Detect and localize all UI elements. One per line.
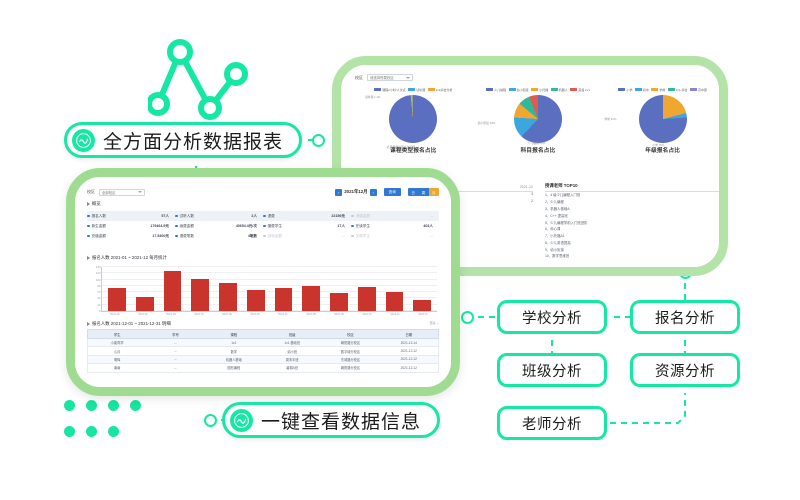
chart-section-title: 报名人数 2021-01 ~ 2021-12 每月统计 [87,255,167,261]
table-more-button[interactable]: 更多 ⌄ [430,321,439,325]
connector-knob [461,311,474,324]
legend-item: 幼小衔接 [509,87,529,92]
y-tick: 120 [96,271,101,275]
column-header[interactable]: 课程 [205,332,263,337]
campus-filter-label: 校区 [355,75,363,81]
period-segmented-control[interactable]: 日 周 月 [408,188,439,196]
x-axis-labels: 2021-01 2021-02 2021-03 2021-04 2021-05 … [101,313,437,321]
legend-item: 1v1 综合 [668,87,688,92]
x-tick: 2021-07 [269,313,297,321]
ranking-header: 授课老师 TOP10 [545,183,719,192]
pie-callout: 小学 76% [652,143,664,147]
enrollment-detail-table: 更多 ⌄ 学生 学号 课程 班级 校区 日期 小能同学 -- 1v1 1v1 基… [87,329,439,379]
pie-graphic [639,95,687,143]
overview-section-title: 概览 [87,201,101,207]
x-tick: 2021-09 [325,313,353,321]
legend-item: 试听课 [408,87,425,92]
pie-callout: 幼小衔接 14% [478,121,496,125]
pie-title: 科目报名占比 [521,146,556,154]
x-tick: 2021-05 [213,313,241,321]
pie-callout: 少儿编程 62% [528,141,546,145]
column-header[interactable]: 学生 [88,332,146,337]
ranking-row: 7、小托福A12 [545,232,719,239]
bar-column[interactable] [270,267,298,311]
segment-day[interactable]: 日 [408,188,418,196]
x-tick: 2021-11 [381,313,409,321]
stat-cell: 报名人数57人 [87,214,175,219]
tag-teacher-analysis[interactable]: 老师分析 [497,406,607,440]
x-tick: 2021-01 [101,313,129,321]
tag-enrollment-analysis[interactable]: 报名分析 [630,300,740,334]
stat-cell: 充值金额17.5400元 [87,234,175,239]
enrollment-bar-chart: 140 120 100 80 60 40 20 0 [87,265,439,321]
ranking-row: 1、4 级少儿编程入门班38 [545,192,719,199]
ranking-row: 6、科心课3 [545,225,719,232]
ranking-list-teachers: 授课老师 TOP10 1、4 级少儿编程入门班38 2、少儿编程24 3、机器人… [545,183,719,259]
bar-column[interactable] [159,267,187,311]
wave-circle-icon [230,409,253,432]
connector-knob [312,134,325,147]
tag-class-analysis[interactable]: 班级分析 [497,353,607,387]
poster-stage: 校区 请选择所属校区 课程2小时/人次点 试听课 1v1综合分析 试听课 1.1… [0,0,800,500]
prev-month-button[interactable]: ‹ [335,189,342,196]
current-month-label: 2021年12月 [344,189,367,195]
enrollment-dashboard-screen: 校区 全部校区 ‹ 2021年12月 › 查询 日 周 月 [75,177,451,387]
chevron-down-icon [138,191,142,193]
bar-column[interactable] [131,267,159,311]
pie-callout: 试听课 1.1% [365,95,381,99]
connector-knob [204,414,217,427]
bar-column[interactable] [325,267,353,311]
pie-chart-row: 课程2小时/人次点 试听课 1v1综合分析 试听课 1.1% 名师课堂班型人次点… [351,87,719,175]
pill-label: 全方面分析数据报表 [103,127,283,154]
legend-item: 英语 1v1 [570,87,590,92]
legend-item: 小托福 [531,87,548,92]
stat-cell: 欠费学生-- [351,234,439,239]
table-row[interactable]: 南南 -- 图形编程 暑期A班 朝阳路分校区 2021-12-12 [87,364,439,372]
y-tick: 140 [96,265,101,269]
ranking-row: 2、少儿编程24 [545,198,719,205]
y-tick: 40 [97,296,100,300]
bar-column[interactable] [242,267,270,311]
legend-item: 初中 [635,87,649,92]
x-tick: 2021-04 [185,313,213,321]
table-row[interactable]: 小能同学 -- 1v1 1v1 基础班 朝阳路分校区 2021-12-14 [87,339,439,347]
campus-select[interactable]: 全部校区 [99,189,145,196]
pie-graphic [514,95,562,143]
column-header[interactable]: 学号 [146,332,204,337]
dot-grid-decoration [64,400,140,446]
ranking-row: 10、数学思维班1 [545,253,719,260]
campus-select[interactable]: 请选择所属校区 [367,74,413,81]
y-tick: 100 [96,278,101,282]
ranking-row: 4、C++ 提高班10 [545,212,719,219]
table-header: 学生 学号 课程 班级 校区 日期 [87,329,439,339]
tag-resource-analysis[interactable]: 资源分析 [630,353,740,387]
pill-one-click-view[interactable]: 一键查看数据信息 [222,402,440,438]
x-tick: 2021-02 [129,313,157,321]
legend-item: 小学 [618,87,632,92]
query-button[interactable]: 查询 [384,188,401,196]
y-tick: 60 [97,290,100,294]
next-month-button[interactable]: › [370,189,377,196]
pie-legend: 少儿编程 幼小衔接 小托福 机器人 英语 1v1 [486,87,590,92]
column-header[interactable]: 日期 [380,332,438,337]
pie-graphic [389,95,437,143]
legend-item: 学前 [651,87,665,92]
ranking-title: 授课老师 TOP10 [545,183,578,189]
legend-item: 少儿编程 [486,87,506,92]
ranking-date: 2021-12 [520,185,533,189]
pie-chart-grade: 小学 初中 学前 1v1 综合 高中部 小学 76% 学前 21% 年级报名占比 [600,87,719,175]
stats-row: 充值金额17.5400元 退费笔数4笔数 结转金额-- 欠费学生-- [87,231,439,241]
y-tick: 20 [97,303,100,307]
stat-cell: 退费笔数4笔数 [175,234,263,239]
pie-callout: 名师课堂班型人次点报 [387,145,415,149]
stat-cell: 在读学生403人 [351,224,439,229]
table-section-title: 报名人数 2021-12-01 ~ 2021-12-31 明细 [87,321,171,327]
table-row[interactable]: 明辉 -- 机器人基础 周末半班 东城路分校区 2021-12-12 [87,356,439,364]
stat-cell: 结转金额-- [263,234,351,239]
bar-column[interactable] [214,267,242,311]
bar-column[interactable] [353,267,381,311]
pie-callout: 学前 21% [604,117,616,121]
bar-column[interactable] [381,267,409,311]
stat-cell: 缴费学生17人 [263,224,351,229]
pie-title: 年级报名占比 [645,146,680,154]
pie-chart-course-type: 课程2小时/人次点 试听课 1v1综合分析 试听课 1.1% 名师课堂班型人次点… [351,87,476,175]
x-tick: 2021-12 [409,313,437,321]
stat-cell: 消课金额-- [351,214,439,219]
campus-select-value: 请选择所属校区 [370,75,394,80]
pie-legend: 课程2小时/人次点 试听课 1v1综合分析 [374,87,452,92]
x-tick: 2021-08 [297,313,325,321]
bar-column[interactable] [186,267,214,311]
ranking-row: 5、少儿编程学前入门班进阶8 [545,219,719,226]
segment-month[interactable]: 月 [429,188,439,196]
date-navigator: ‹ 2021年12月 › 查询 日 周 月 [335,188,439,196]
stat-cell: 新生金额179464.5元 [87,224,175,229]
bar-column[interactable] [408,267,436,311]
line-chart-decoration-icon [148,28,252,124]
campus-select-value: 全部校区 [102,190,116,195]
stat-cell: 续费金额40654.4元/次 [175,224,263,229]
enrollment-dashboard-window: 校区 全部校区 ‹ 2021年12月 › 查询 日 周 月 [66,168,460,396]
campus-filter-label: 校区 [87,189,95,195]
pill-full-analysis[interactable]: 全方面分析数据报表 [64,122,302,158]
table-row[interactable]: 心月 -- 数学 幼小班 数字城分校区 2021-12-12 [87,347,439,355]
pie-legend: 小学 初中 学前 1v1 综合 高中部 [618,87,707,92]
y-tick: 80 [97,284,100,288]
stat-cell: 试听人数2人 [175,214,263,219]
legend-item: 1v1综合分析 [428,87,453,92]
stat-cell: 退费22156元 [263,214,351,219]
segment-week[interactable]: 周 [418,188,428,196]
x-tick: 2021-10 [353,313,381,321]
column-header[interactable]: 班级 [263,332,321,337]
bar-column[interactable] [103,267,131,311]
stats-grid: 报名人数57人 试听人数2人 退费22156元 消课金额-- 新生金额17946… [87,211,439,247]
column-header[interactable]: 校区 [321,332,379,337]
dashboard-toolbar: 校区 全部校区 ‹ 2021年12月 › 查询 日 周 月 [87,187,439,197]
ranking-row: 8、少儿英语提高2 [545,239,719,246]
ranking-row: 9、幼小衔接1 [545,246,719,253]
legend-item: 高中部 [690,87,707,92]
x-tick: 2021-03 [157,313,185,321]
wave-circle-icon [72,129,95,152]
ranking-row: 3、机器人基础A15 [545,205,719,212]
x-tick: 2021-06 [241,313,269,321]
pill-label: 一键查看数据信息 [261,407,421,434]
legend-item: 机器人 [551,87,568,92]
bar-column[interactable] [297,267,325,311]
stats-row: 新生金额179464.5元 续费金额40654.4元/次 缴费学生17人 在读学… [87,221,439,231]
tag-school-analysis[interactable]: 学校分析 [497,300,607,334]
legend-item: 课程2小时/人次点 [374,87,406,92]
chart-plot-area: 140 120 100 80 60 40 20 0 [101,267,437,312]
stats-row: 报名人数57人 试听人数2人 退费22156元 消课金额-- [87,211,439,221]
bar-series [102,267,437,311]
campus-filter[interactable]: 校区 请选择所属校区 [355,74,413,81]
chevron-down-icon [406,77,410,79]
pie-chart-subject: 少儿编程 幼小衔接 小托福 机器人 英语 1v1 少儿编程 62% 幼小衔接 1… [476,87,601,175]
